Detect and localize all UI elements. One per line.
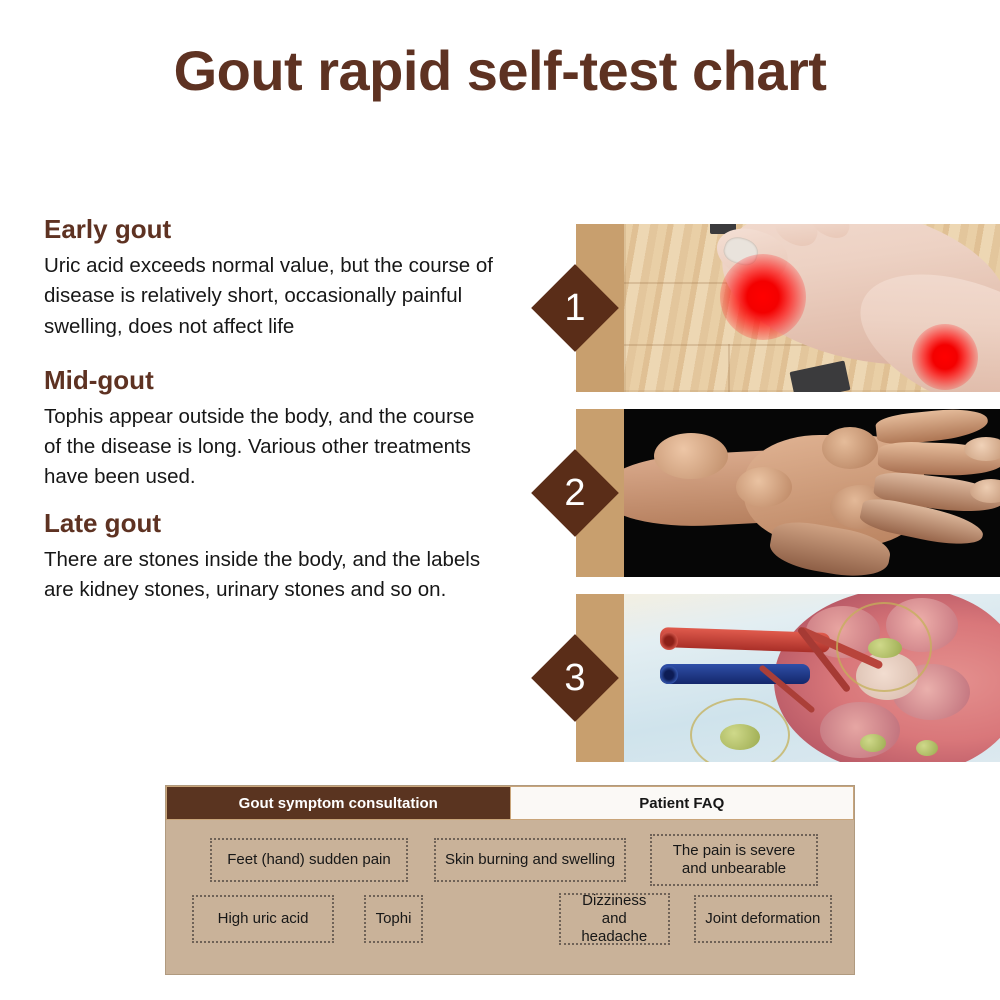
stage-number-label-3: 3 bbox=[544, 647, 606, 709]
stage-block-late-gout: Late gout There are stones inside the bo… bbox=[44, 509, 514, 606]
page-title: Gout rapid self-test chart bbox=[0, 38, 1000, 103]
symptom-chip-row: Feet (hand) sudden pain Skin burning and… bbox=[188, 838, 832, 886]
stage-number-label-2: 2 bbox=[544, 462, 606, 524]
stage-panel-2: 2 bbox=[576, 409, 1000, 577]
symptom-chip-grid: Feet (hand) sudden pain Skin burning and… bbox=[166, 820, 854, 945]
stage-number-label-1: 1 bbox=[544, 277, 606, 339]
stage-image-panels: 1 2 bbox=[576, 224, 1000, 779]
symptom-chip-tophi[interactable]: Tophi bbox=[364, 895, 423, 943]
tab-patient-faq[interactable]: Patient FAQ bbox=[511, 786, 855, 820]
symptom-chip-row: High uric acid Tophi Dizziness and heada… bbox=[188, 895, 832, 945]
renal-pyramid bbox=[820, 702, 900, 758]
stage-panel-3: 3 bbox=[576, 594, 1000, 762]
symptom-chip-feet-hand-sudden-pain[interactable]: Feet (hand) sudden pain bbox=[210, 838, 408, 882]
stage-descriptions: Early gout Uric acid exceeds normal valu… bbox=[44, 215, 514, 623]
stage-body-mid-gout: Tophis appear outside the body, and the … bbox=[44, 402, 496, 493]
consultation-tabs: Gout symptom consultation Patient FAQ bbox=[166, 786, 854, 820]
tophus-lump bbox=[654, 433, 728, 479]
kidney-stone bbox=[860, 734, 886, 752]
stage-body-late-gout: There are stones inside the body, and th… bbox=[44, 545, 496, 606]
kidney-stone bbox=[916, 740, 938, 756]
floor-seam bbox=[728, 344, 730, 392]
tophus-lump bbox=[736, 467, 792, 507]
tophus-lump bbox=[822, 427, 878, 469]
symptom-chip-skin-burning-and-swelling[interactable]: Skin burning and swelling bbox=[434, 838, 626, 882]
stage-block-mid-gout: Mid-gout Tophis appear outside the body,… bbox=[44, 366, 514, 493]
symptom-chip-joint-deformation[interactable]: Joint deformation bbox=[694, 895, 832, 943]
kidney-stone bbox=[868, 638, 902, 658]
stage-heading-late-gout: Late gout bbox=[44, 509, 514, 539]
pain-marker-ankle bbox=[912, 324, 978, 390]
stage-body-early-gout: Uric acid exceeds normal value, but the … bbox=[44, 251, 496, 342]
stage-photo-hand bbox=[624, 409, 1000, 577]
stage-block-early-gout: Early gout Uric acid exceeds normal valu… bbox=[44, 215, 514, 342]
renal-vein bbox=[660, 664, 810, 684]
fingertip bbox=[964, 437, 1000, 461]
tab-gout-symptom-consultation[interactable]: Gout symptom consultation bbox=[166, 786, 511, 820]
stage-heading-mid-gout: Mid-gout bbox=[44, 366, 514, 396]
floor-seam bbox=[624, 344, 810, 346]
stage-photo-foot bbox=[624, 224, 1000, 392]
stage-heading-early-gout: Early gout bbox=[44, 215, 514, 245]
kidney-stone bbox=[720, 724, 760, 750]
symptom-chip-high-uric-acid[interactable]: High uric acid bbox=[192, 895, 334, 943]
consultation-panel: Gout symptom consultation Patient FAQ Fe… bbox=[165, 785, 855, 975]
pain-marker-toe-joint bbox=[720, 254, 806, 340]
stage-panel-1: 1 bbox=[576, 224, 1000, 392]
vein-opening bbox=[660, 666, 678, 684]
symptom-chip-pain-severe-unbearable[interactable]: The pain is severe and unbearable bbox=[650, 834, 818, 886]
symptom-chip-dizziness-and-headache[interactable]: Dizziness and headache bbox=[559, 893, 670, 945]
artery-opening bbox=[660, 632, 678, 650]
stage-photo-kidney bbox=[624, 594, 1000, 762]
